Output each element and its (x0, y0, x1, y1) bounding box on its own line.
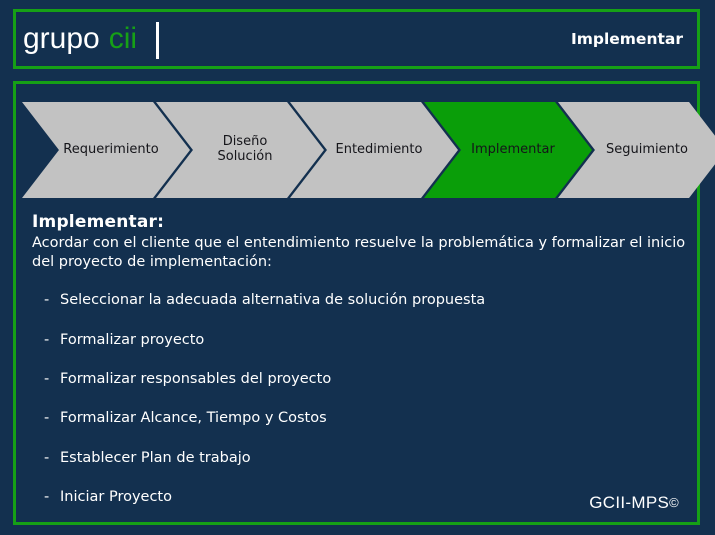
logo-divider-bar (156, 22, 159, 59)
process-step-label: Requerimiento (53, 143, 158, 158)
logo-accent-text: cii (109, 24, 137, 54)
section-heading: Implementar: (32, 212, 687, 232)
list-item: - Establecer Plan de trabajo (32, 451, 687, 467)
process-step-label: Implementar (461, 143, 555, 158)
list-item-label: Seleccionar la adecuada alternativa de s… (60, 292, 485, 308)
list-item-label: Formalizar proyecto (60, 332, 204, 348)
process-step-label: Diseño Solución (207, 135, 272, 164)
process-flow: Requerimiento Diseño Solución Entedimien… (22, 102, 694, 198)
logo-primary-text: grupo (23, 24, 100, 54)
copyright-icon: © (669, 495, 679, 510)
bullet-dash: - (44, 333, 49, 349)
page-title: Implementar (571, 30, 697, 48)
content-body: Implementar: Acordar con el cliente que … (32, 212, 687, 530)
footer-copyright: GCII-MPS© (589, 493, 679, 513)
process-step-label: Seguimiento (596, 143, 688, 158)
list-item: - Seleccionar la adecuada alternativa de… (32, 293, 687, 309)
bullet-dash: - (44, 293, 49, 309)
bullet-dash: - (44, 372, 49, 388)
task-list: - Seleccionar la adecuada alternativa de… (32, 293, 687, 506)
list-item-label: Establecer Plan de trabajo (60, 450, 251, 466)
process-step-requerimiento[interactable]: Requerimiento (22, 102, 190, 198)
header-panel: grupo cii Implementar (13, 9, 700, 69)
list-item-label: Formalizar responsables del proyecto (60, 371, 331, 387)
content-panel: Requerimiento Diseño Solución Entedimien… (13, 81, 700, 525)
bullet-dash: - (44, 451, 49, 467)
bullet-dash: - (44, 411, 49, 427)
section-intro: Acordar con el cliente que el entendimie… (32, 234, 687, 271)
bullet-dash: - (44, 490, 49, 506)
list-item: - Formalizar responsables del proyecto (32, 372, 687, 388)
list-item: - Formalizar Alcance, Tiempo y Costos (32, 411, 687, 427)
list-item: - Formalizar proyecto (32, 333, 687, 349)
footer-mark-text: GCII-MPS (589, 493, 669, 512)
process-step-label: Entedimiento (326, 143, 423, 158)
list-item-label: Iniciar Proyecto (60, 489, 172, 505)
logo: grupo cii (16, 20, 159, 59)
list-item-label: Formalizar Alcance, Tiempo y Costos (60, 410, 327, 426)
